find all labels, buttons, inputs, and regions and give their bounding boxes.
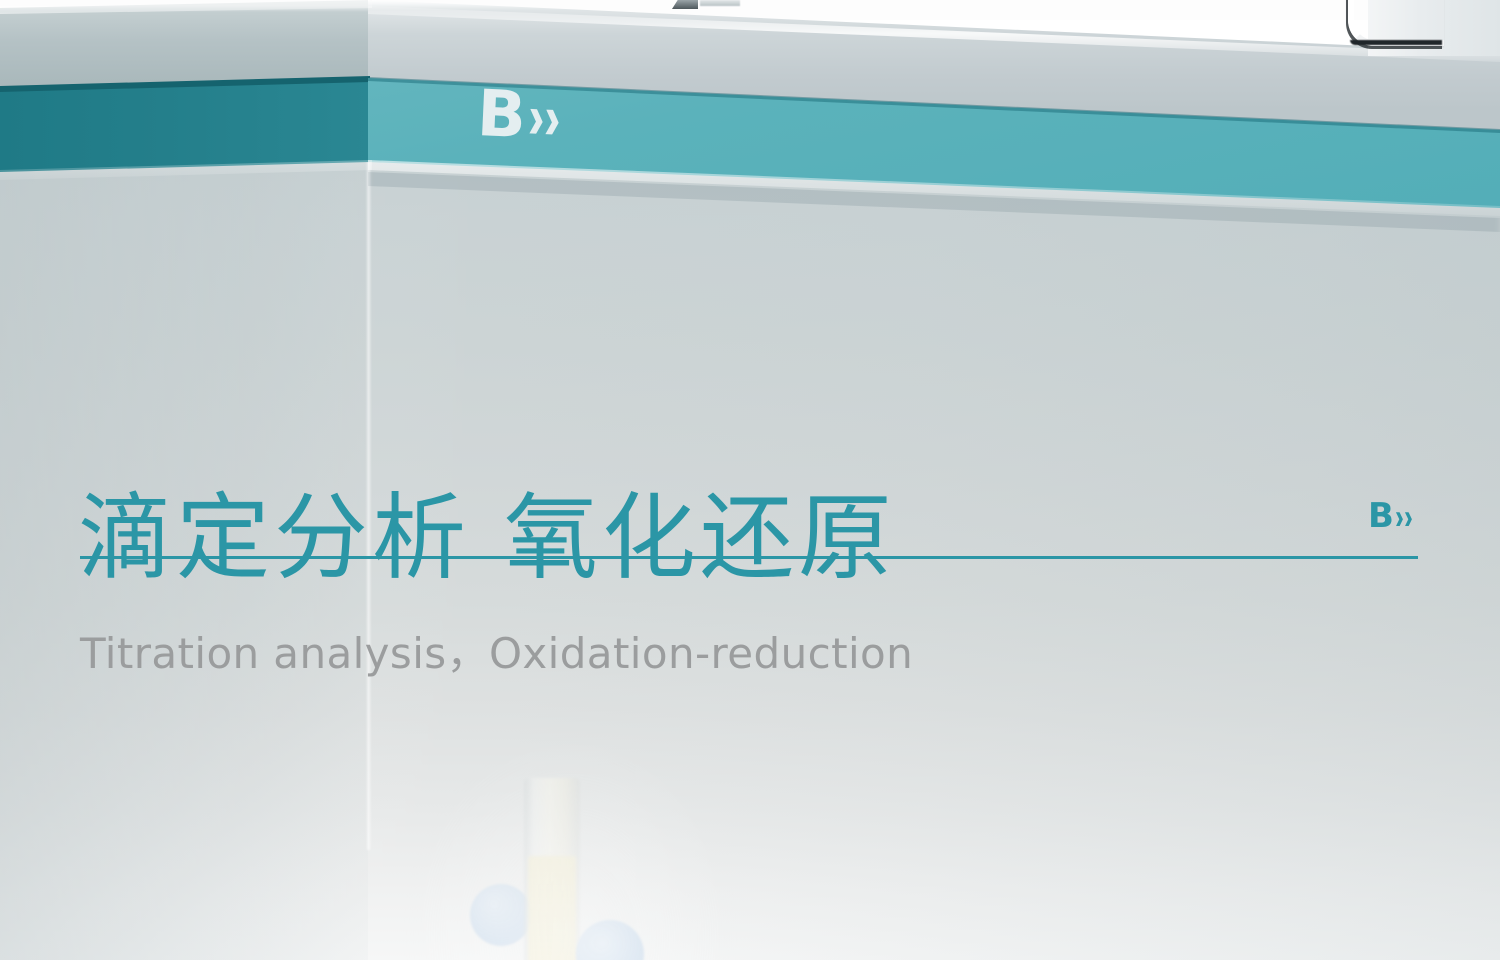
page-subtitle: Titration analysis，Oxidation-reduction [80,620,913,681]
title-divider [80,556,1418,559]
corner-logo-letter: B [1368,503,1393,530]
presentation-slide: B 滴定分析 氧化还原 B Titration analysis，Oxidati… [0,0,1500,960]
cover-content: 滴定分析 氧化还原 B Titration analysis，Oxidation… [0,0,1500,960]
corner-brand-logo: B [1368,503,1412,530]
page-title: 滴定分析 氧化还原 [78,488,896,590]
corner-logo-chevron-icon [1396,512,1412,530]
